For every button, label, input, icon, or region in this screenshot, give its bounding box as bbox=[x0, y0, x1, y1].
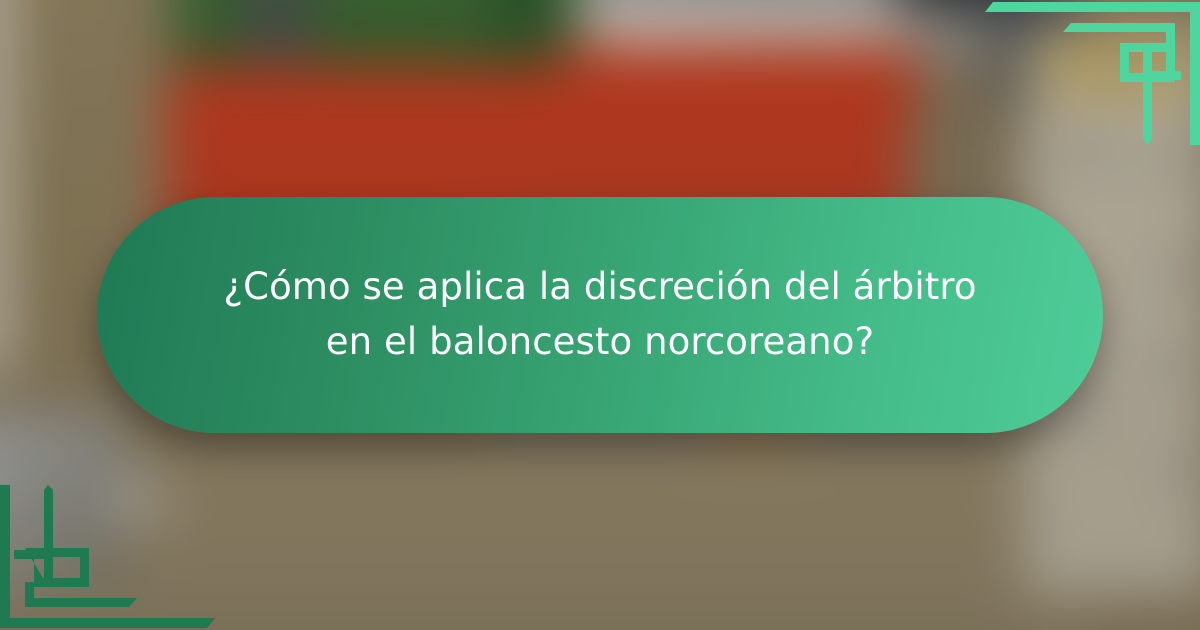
question-card: ¿Cómo se aplica la discreción del árbitr… bbox=[97, 197, 1103, 433]
corner-bracket-bottom-left-icon bbox=[0, 485, 215, 630]
corner-bracket-top-right-icon bbox=[985, 0, 1200, 145]
poster-canvas: ¿Cómo se aplica la discreción del árbitr… bbox=[0, 0, 1200, 630]
question-text: ¿Cómo se aplica la discreción del árbitr… bbox=[217, 260, 983, 370]
